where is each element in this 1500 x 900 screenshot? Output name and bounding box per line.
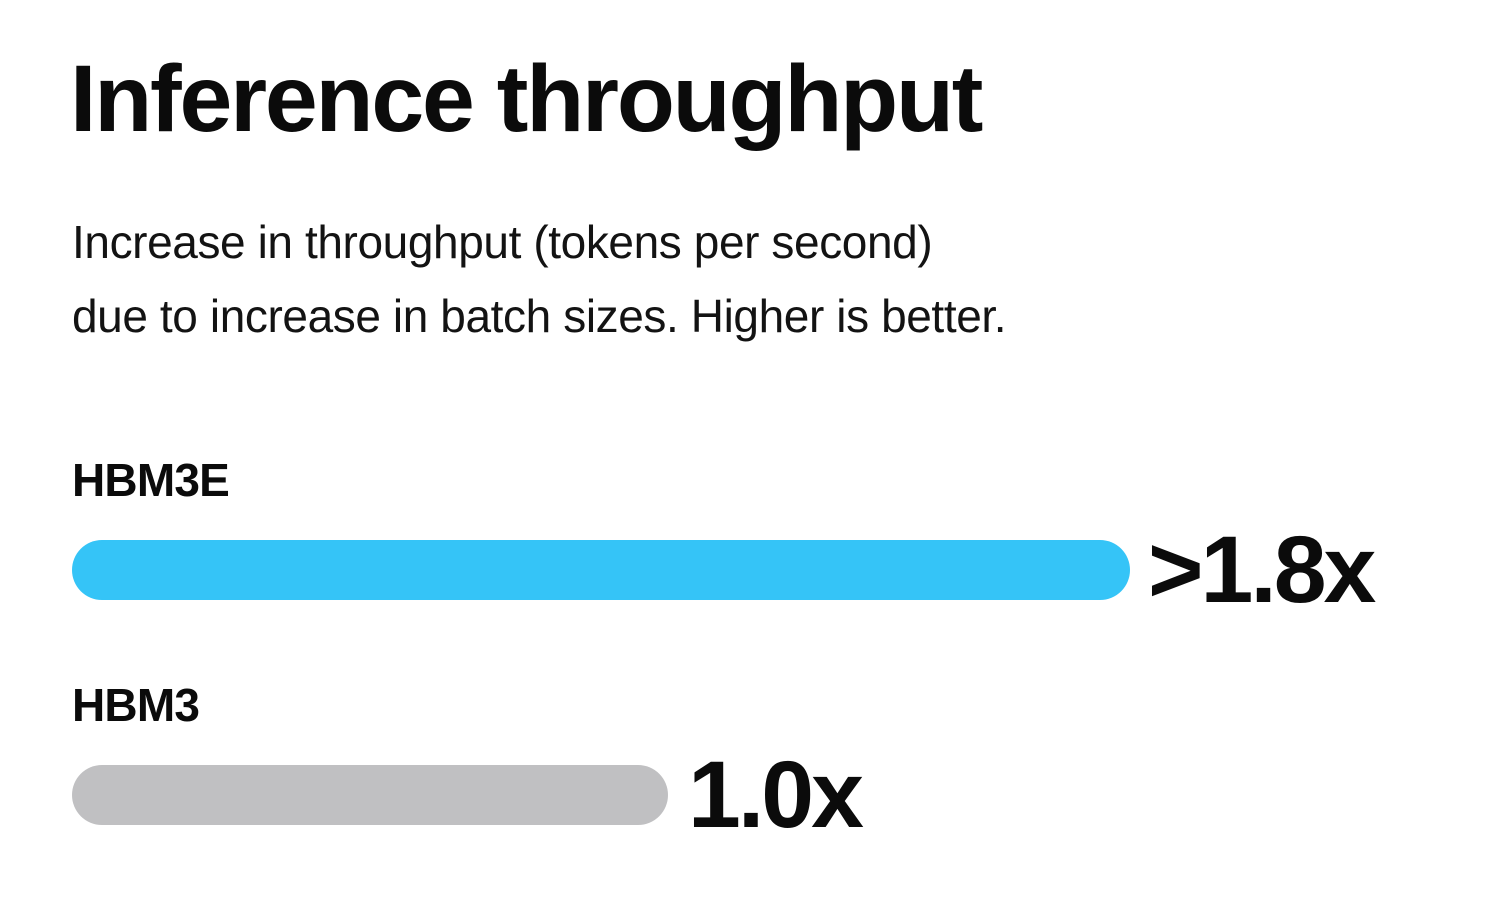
bar-row-hbm3: 1.0x bbox=[0, 765, 1500, 825]
bar-label-hbm3: HBM3 bbox=[72, 680, 199, 730]
bar-hbm3 bbox=[72, 765, 668, 825]
bar-hbm3e bbox=[72, 540, 1130, 600]
bar-value-hbm3e: >1.8x bbox=[1148, 499, 1373, 641]
bar-label-hbm3e: HBM3E bbox=[72, 455, 229, 505]
chart-subtitle: Increase in throughput (tokens per secon… bbox=[72, 205, 1006, 353]
page-title: Inference throughput bbox=[70, 52, 981, 147]
bar-value-hbm3: 1.0x bbox=[688, 724, 861, 866]
bar-row-hbm3e: >1.8x bbox=[0, 540, 1500, 600]
chart-canvas: Inference throughput Increase in through… bbox=[0, 0, 1500, 900]
